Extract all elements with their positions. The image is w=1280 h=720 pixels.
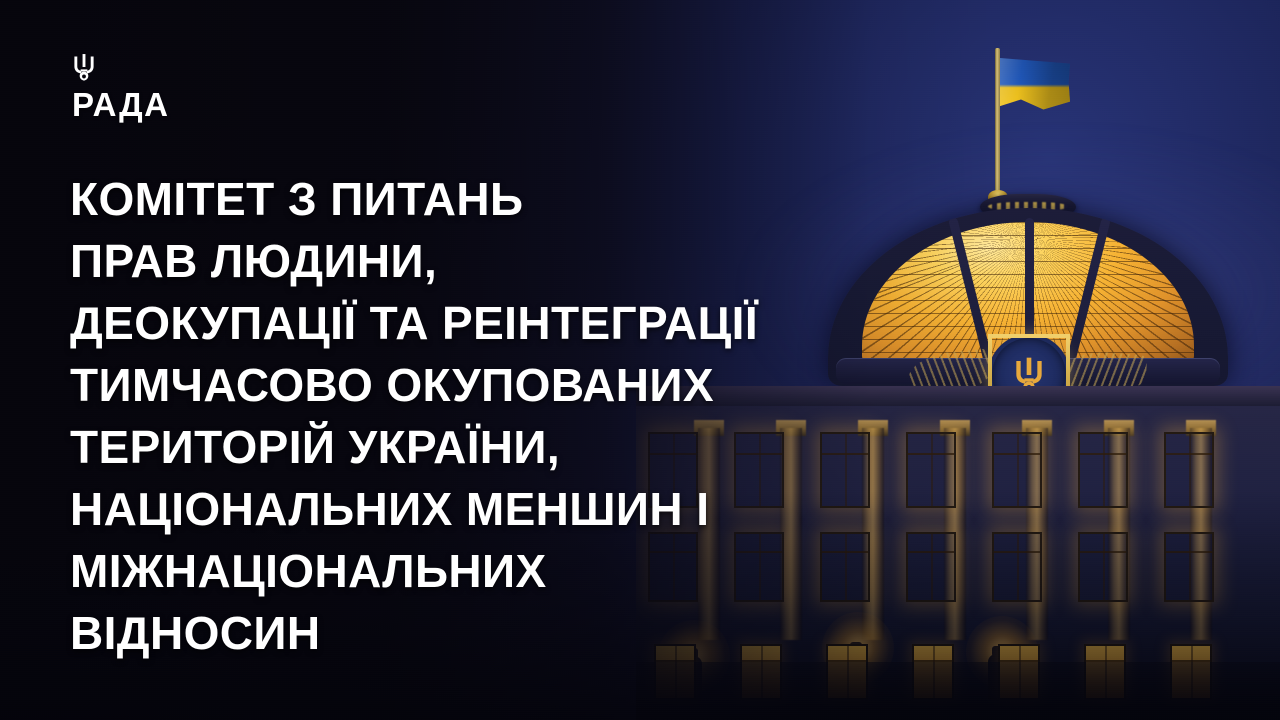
title-line: ПРАВ ЛЮДИНИ, <box>70 230 950 292</box>
title-line: НАЦІОНАЛЬНИХ МЕНШИН І <box>70 478 950 540</box>
ukraine-trident-icon <box>72 52 96 82</box>
title-line: ТИМЧАСОВО ОКУПОВАНИХ <box>70 354 950 416</box>
title-line: ТЕРИТОРІЙ УКРАЇНИ, <box>70 416 950 478</box>
rada-logo[interactable]: РАДА <box>72 52 170 121</box>
title-line: ДЕОКУПАЦІЇ ТА РЕІНТЕГРАЦІЇ <box>70 292 950 354</box>
banner-content: РАДА КОМІТЕТ З ПИТАНЬ ПРАВ ЛЮДИНИ, ДЕОКУ… <box>0 0 1280 720</box>
title-line: МІЖНАЦІОНАЛЬНИХ <box>70 540 950 602</box>
title-line: КОМІТЕТ З ПИТАНЬ <box>70 168 950 230</box>
rada-wordmark: РАДА <box>72 88 170 121</box>
title-line: ВІДНОСИН <box>70 602 950 664</box>
promo-banner: РАДА КОМІТЕТ З ПИТАНЬ ПРАВ ЛЮДИНИ, ДЕОКУ… <box>0 0 1280 720</box>
committee-title: КОМІТЕТ З ПИТАНЬ ПРАВ ЛЮДИНИ, ДЕОКУПАЦІЇ… <box>70 168 950 664</box>
